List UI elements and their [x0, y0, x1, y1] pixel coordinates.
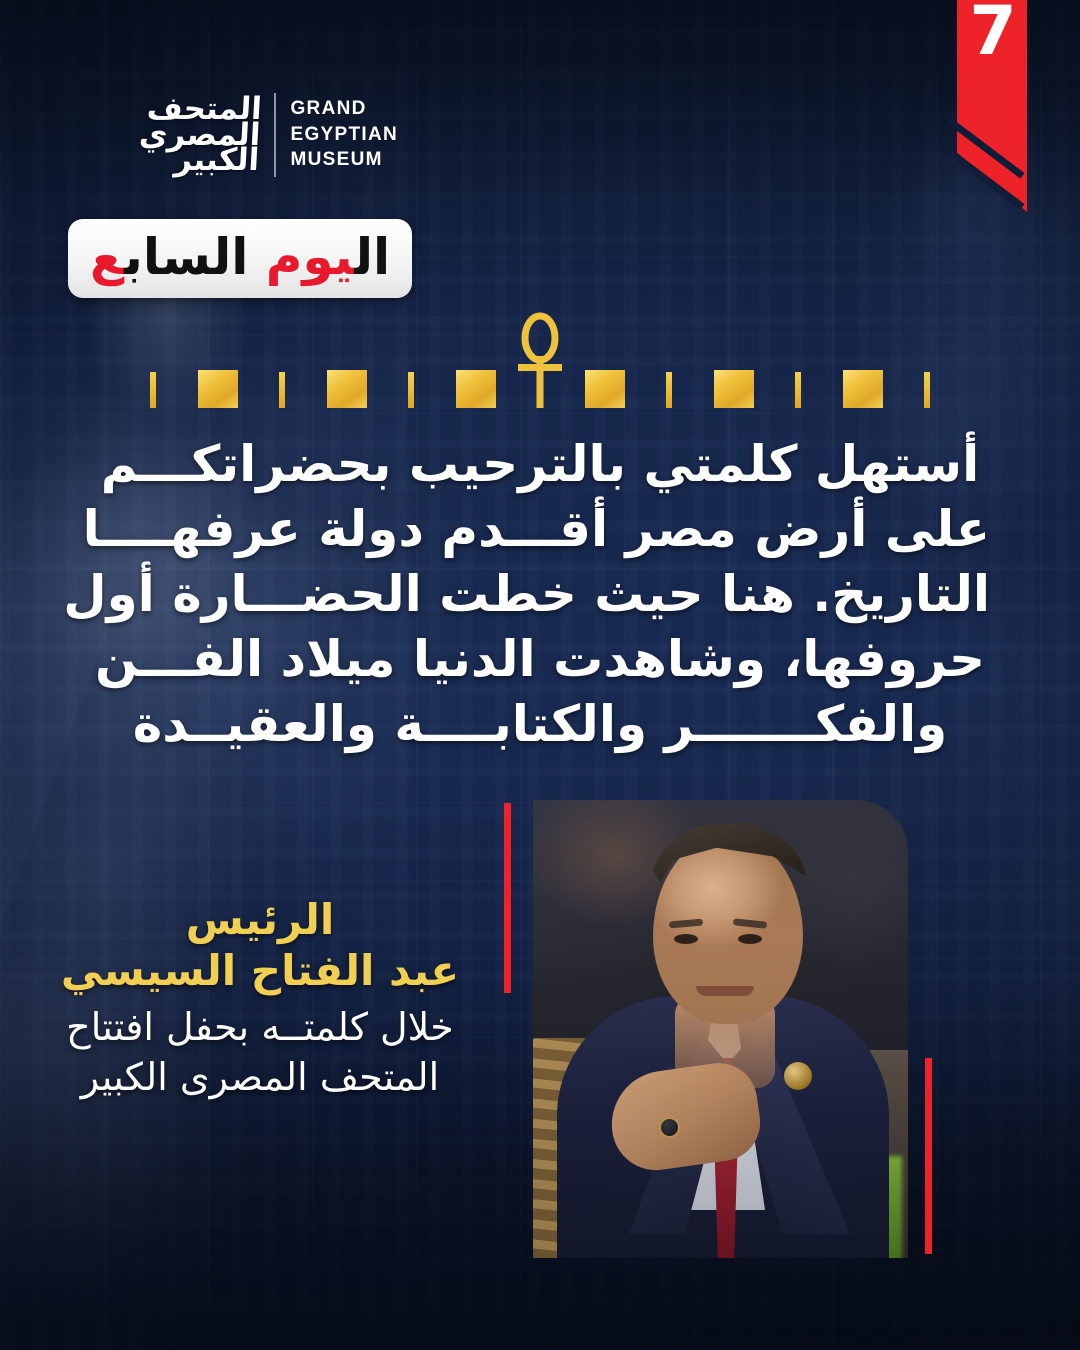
photo-overlay — [533, 800, 908, 1258]
youm7-part-3: الساب — [124, 228, 266, 286]
ribbon-number-label: 7 — [957, 0, 1027, 71]
quote-line-3: التاريخ. هنا حيث خطت الحضـــارة أول — [90, 562, 990, 627]
gold-ankh-divider — [150, 312, 930, 408]
gold-bar-thick — [327, 370, 367, 408]
gold-bar-thick — [843, 370, 883, 408]
quote-line-5: والفكـــــــر والكتابــــة والعقيــدة — [90, 692, 990, 757]
ankh-icon — [510, 312, 570, 412]
quote-text: أستهل كلمتي بالترحيب بحضراتكـــم على أرض… — [90, 432, 990, 757]
caption-block: الرئيس عبد الفتاح السيسي خلال كلمتــه بح… — [40, 896, 480, 1102]
gold-bar-thin — [408, 372, 414, 408]
museum-logo-english-line-2: EGYPTIAN — [290, 122, 398, 148]
gold-bar-thin — [924, 372, 930, 408]
gold-bar-thin — [279, 372, 285, 408]
gold-bar-thin — [795, 372, 801, 408]
infographic-canvas: 7 المتحف المصري الكبير GRAND EGYPTIAN MU… — [0, 0, 1080, 1350]
red-ribbon-banner: 7 — [957, 0, 1027, 212]
logo-divider-line — [274, 93, 276, 177]
gold-bar-thin — [150, 372, 156, 408]
youm7-logo-text: اليوم السابع — [90, 232, 390, 282]
accent-bar-left — [504, 803, 511, 993]
youm7-part-2: يوم — [266, 228, 354, 286]
quote-line-1: أستهل كلمتي بالترحيب بحضراتكـــم — [90, 432, 990, 497]
gold-bar-thin — [666, 372, 672, 408]
museum-logo-english-line-3: MUSEUM — [290, 147, 398, 173]
gold-bar-thick — [198, 370, 238, 408]
youm7-part-1: ال — [354, 228, 390, 286]
museum-logo-english-line-1: GRAND — [290, 96, 398, 122]
youm7-logo-badge[interactable]: اليوم السابع — [68, 219, 412, 298]
caption-name: عبد الفتاح السيسي — [40, 947, 480, 996]
caption-subtitle: خلال كلمتــه بحفل افتتاح المتحف المصرى ا… — [40, 1003, 480, 1102]
gold-bar-thick — [714, 370, 754, 408]
portrait-photo — [533, 800, 908, 1258]
youm7-part-4: ع — [90, 228, 124, 286]
caption-subtitle-line-2: المتحف المصرى الكبير — [40, 1053, 480, 1102]
accent-bar-right — [925, 1058, 932, 1254]
caption-subtitle-line-1: خلال كلمتــه بحفل افتتاح — [40, 1003, 480, 1052]
gold-bar-thick — [456, 370, 496, 408]
museum-logo-english: GRAND EGYPTIAN MUSEUM — [290, 96, 398, 173]
caption-role: الرئيس — [40, 896, 480, 945]
museum-logo-arabic: المتحف المصري الكبير — [116, 95, 263, 175]
quote-line-4: حروفها، وشاهدت الدنيا ميلاد الفـــن — [90, 627, 990, 692]
grand-egyptian-museum-logo: المتحف المصري الكبير GRAND EGYPTIAN MUSE… — [118, 72, 398, 197]
gold-bar-thick — [585, 370, 625, 408]
quote-line-2: على أرض مصر أقـــدم دولة عرفهــــا — [90, 497, 990, 562]
